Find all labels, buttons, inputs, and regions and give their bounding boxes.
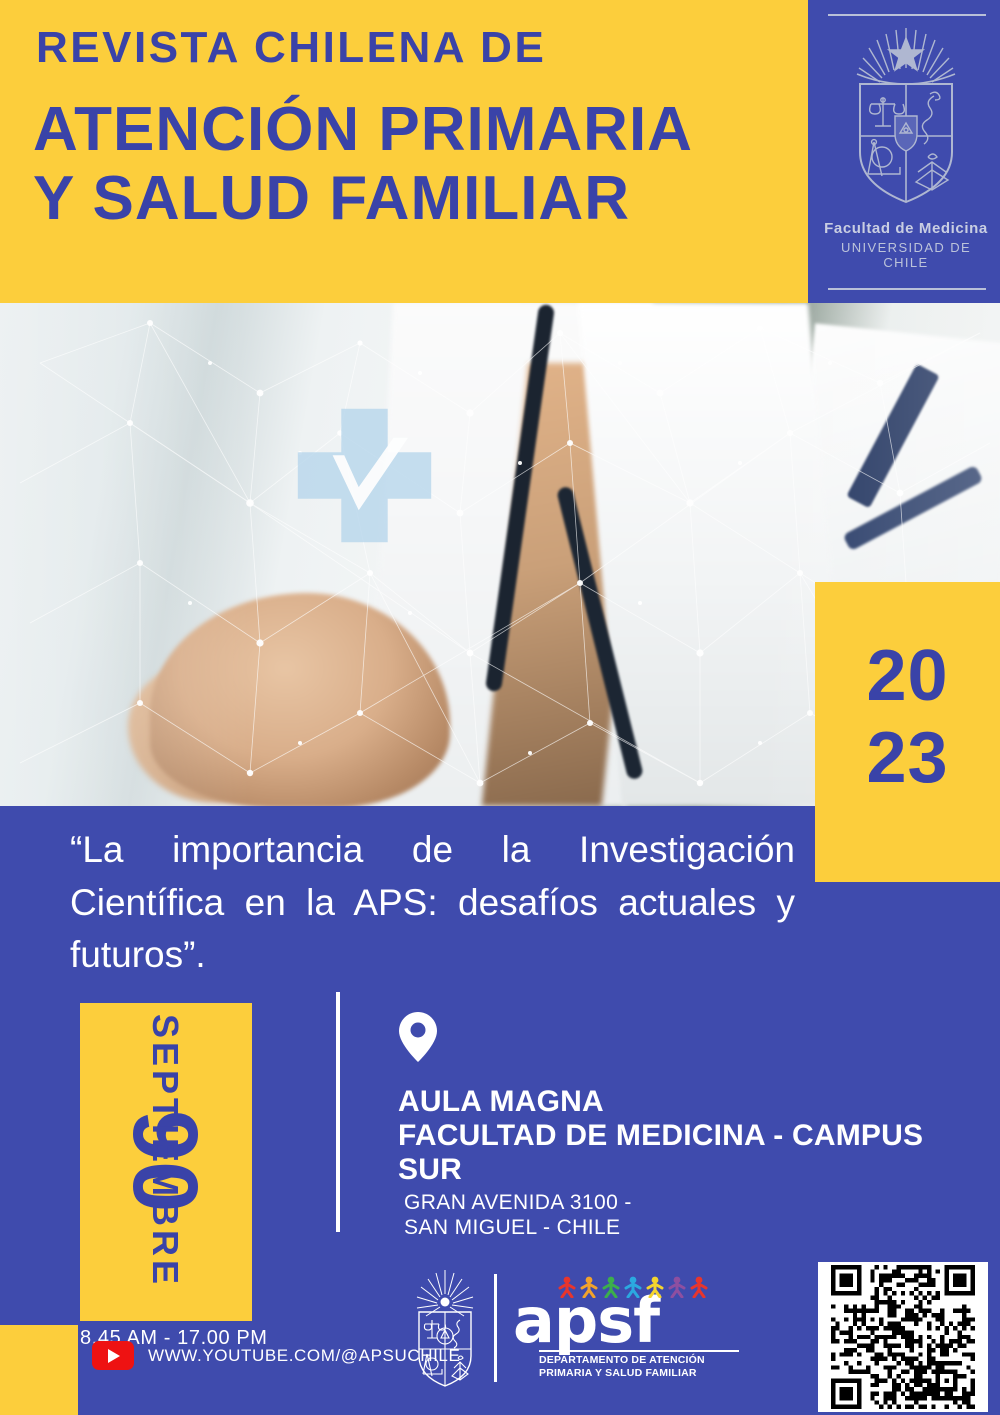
venue-address-line1: GRAN AVENIDA 3100 -	[404, 1190, 978, 1215]
logo-separator	[494, 1274, 497, 1382]
person-icon-3	[601, 1276, 621, 1298]
venue-faculty: FACULTAD DE MEDICINA - CAMPUS SUR	[398, 1119, 978, 1187]
page-title: ATENCIÓN PRIMARIA Y SALUD FAMILIAR	[33, 95, 793, 234]
person-icon-7	[689, 1276, 709, 1298]
logo-university-label: UNIVERSIDAD DE CHILE	[818, 240, 994, 270]
apsf-dept-line2: PRIMARIA Y SALUD FAMILIAR	[539, 1367, 743, 1380]
uchile-shield-outline-icon	[412, 1268, 478, 1388]
year-top: 20	[815, 640, 1000, 712]
vertical-divider	[336, 992, 340, 1232]
location-pin-icon	[399, 1012, 437, 1062]
year-badge: 20 23	[815, 582, 1000, 882]
person-icon-5	[645, 1276, 665, 1298]
event-theme-quote: “La importancia de la Investigación Cien…	[70, 824, 795, 982]
person-icon-2	[579, 1276, 599, 1298]
journal-kicker: REVISTA CHILENA DE	[36, 26, 776, 70]
page-title-line1: ATENCIÓN PRIMARIA	[33, 95, 693, 164]
youtube-link[interactable]: WWW.YOUTUBE.COM/@APSUCHILE	[92, 1341, 460, 1370]
apsf-logo: apsf DEPARTAMENTO DE ATENCIÓN PRIMARIA Y…	[513, 1276, 743, 1380]
apsf-wordmark: apsf	[513, 1294, 743, 1349]
bottom-left-accent	[0, 1325, 78, 1415]
logo-rule-bottom	[828, 288, 986, 290]
footer-logos: apsf DEPARTAMENTO DE ATENCIÓN PRIMARIA Y…	[412, 1268, 743, 1388]
logo-faculty-label: Facultad de Medicina	[818, 220, 994, 237]
apsf-dept-line1: DEPARTAMENTO DE ATENCIÓN	[539, 1354, 743, 1367]
venue-block: AULA MAGNA FACULTAD DE MEDICINA - CAMPUS…	[398, 1085, 978, 1240]
university-logo: Facultad de Medicina UNIVERSIDAD DE CHIL…	[818, 8, 994, 296]
date-badge: 06 SEPTIEMBRE	[80, 1003, 252, 1321]
page-title-line2: Y SALUD FAMILIAR	[33, 164, 793, 233]
person-icon-1	[557, 1276, 577, 1298]
person-icon-4	[623, 1276, 643, 1298]
person-icon-6	[667, 1276, 687, 1298]
venue-address-line2: SAN MIGUEL - CHILE	[404, 1215, 978, 1240]
coat-of-arms-icon	[842, 24, 970, 214]
date-month: SEPTIEMBRE	[147, 986, 183, 1316]
poster-root: REVISTA CHILENA DE ATENCIÓN PRIMARIA Y S…	[0, 0, 1000, 1415]
qr-code[interactable]	[818, 1262, 988, 1412]
year-bottom: 23	[815, 722, 1000, 794]
logo-rule-top	[828, 14, 986, 16]
venue-name: AULA MAGNA	[398, 1085, 978, 1119]
youtube-play-icon[interactable]	[92, 1341, 134, 1370]
apsf-department-label: DEPARTAMENTO DE ATENCIÓN PRIMARIA Y SALU…	[539, 1354, 743, 1380]
qr-code-image[interactable]	[821, 1265, 985, 1409]
